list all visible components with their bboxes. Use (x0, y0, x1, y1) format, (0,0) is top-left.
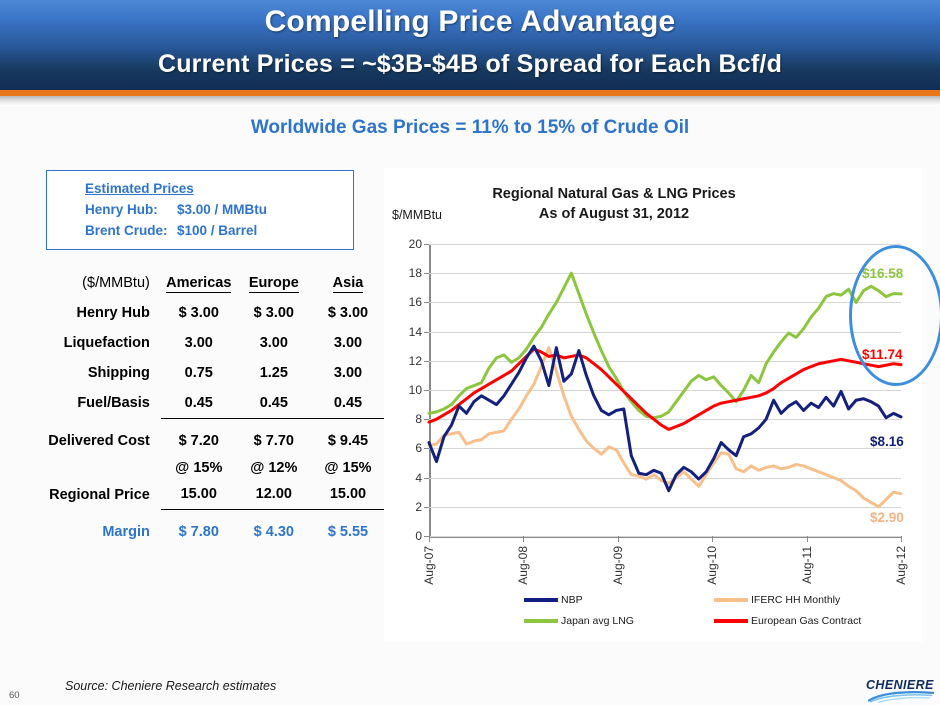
logo-wordmark: CHENIERE (866, 678, 934, 692)
table-col-header-asia: Asia (311, 268, 385, 298)
y-tick-label: 16 (409, 295, 422, 309)
rule-spacer-2 (20, 510, 161, 518)
row-label-fuel-basis: Fuel/Basis (20, 388, 161, 418)
y-tick-label: 2 (415, 500, 422, 514)
cell-regional-price-europe: 12.00 (237, 480, 311, 510)
percent-row-spacer (20, 456, 161, 480)
cell-delivered-cost-europe: $ 7.70 (237, 426, 311, 456)
cell-margin-asia: $ 5.55 (311, 517, 385, 547)
plot-area: 02468101214161820 Aug-07Aug-08Aug-09Aug-… (429, 244, 901, 536)
row-label-henry-hub: Henry Hub (20, 298, 161, 328)
rule2-europe (237, 510, 311, 518)
page-title: Compelling Price Advantage (0, 5, 940, 39)
estimated-prices-row-label-1: Brent Crude: (85, 223, 168, 238)
rule2-americas (161, 510, 237, 518)
table-row: Fuel/Basis 0.45 0.45 0.45 (20, 388, 385, 418)
estimated-prices-row-label-0: Henry Hub: (85, 202, 158, 217)
x-tick-mark (712, 536, 713, 542)
page-subtitle: Current Prices = ~$3B-$4B of Spread for … (0, 50, 940, 79)
table-unit-label: ($/MMBtu) (20, 268, 161, 298)
cell-regional-price-asia: 15.00 (311, 480, 385, 510)
legend-label-japan-lng: Japan avg LNG (561, 615, 634, 627)
legend-swatch-nbp (524, 598, 558, 602)
estimated-prices-box: Estimated Prices Henry Hub: $3.00 / MMBt… (46, 170, 354, 250)
series-lines (429, 244, 901, 536)
cost-breakdown-table: ($/MMBtu) Americas Europe Asia Henry Hub… (20, 268, 385, 547)
series-line-japan-avg-lng (429, 273, 901, 418)
rule-asia (311, 418, 385, 426)
table-row: Delivered Cost $ 7.20 $ 7.70 $ 9.45 (20, 426, 385, 456)
row-label-liquefaction: Liquefaction (20, 328, 161, 358)
cheniere-logo: CHENIERE (866, 678, 934, 702)
row-label-margin: Margin (20, 517, 161, 547)
legend-label-nbp: NBP (561, 594, 583, 606)
cell-delivered-cost-asia: $ 9.45 (311, 426, 385, 456)
table-row: Shipping 0.75 1.25 3.00 (20, 358, 385, 388)
header-shadow (0, 96, 940, 106)
table-header-row: ($/MMBtu) Americas Europe Asia (20, 268, 385, 298)
rule2-asia (311, 510, 385, 518)
cell-percent-americas: @ 15% (161, 456, 237, 480)
annotation-iferc-hh-value: $2.90 (870, 510, 904, 525)
cell-shipping-asia: 3.00 (311, 358, 385, 388)
cell-fuel-basis-americas: 0.45 (161, 388, 237, 418)
legend-item-iferc: IFERC HH Monthly (714, 594, 840, 606)
cell-fuel-basis-europe: 0.45 (237, 388, 311, 418)
cell-shipping-europe: 1.25 (237, 358, 311, 388)
chart-subtitle: As of August 31, 2012 (404, 206, 824, 222)
cell-percent-europe: @ 12% (237, 456, 311, 480)
table-row: Henry Hub $ 3.00 $ 3.00 $ 3.00 (20, 298, 385, 328)
row-label-regional-price: Regional Price (20, 480, 161, 510)
y-tick-label: 10 (409, 383, 422, 397)
x-tick-mark (429, 536, 430, 542)
table-col-header-americas: Americas (161, 268, 237, 298)
table-row-percent: @ 15% @ 12% @ 15% (20, 456, 385, 480)
x-tick-mark (901, 536, 902, 542)
estimated-prices-row-value-1: $100 / Barrel (177, 223, 257, 238)
legend-label-european-gas: European Gas Contract (751, 615, 861, 627)
table-row: Liquefaction 3.00 3.00 3.00 (20, 328, 385, 358)
x-tick-label: Aug-10 (705, 546, 719, 585)
rule-spacer (20, 418, 161, 426)
series-line-nbp (429, 346, 901, 491)
y-tick-label: 8 (415, 412, 422, 426)
y-tick-label: 6 (415, 441, 422, 455)
gridline (429, 536, 901, 537)
table-row-margin: Margin $ 7.80 $ 4.30 $ 5.55 (20, 517, 385, 547)
table-margin-rule (20, 510, 385, 518)
chart-title: Regional Natural Gas & LNG Prices (404, 186, 824, 202)
legend-swatch-iferc (714, 598, 748, 602)
cell-liquefaction-europe: 3.00 (237, 328, 311, 358)
cell-shipping-americas: 0.75 (161, 358, 237, 388)
cell-henry-hub-americas: $ 3.00 (161, 298, 237, 328)
row-label-shipping: Shipping (20, 358, 161, 388)
x-tick-mark (807, 536, 808, 542)
x-tick-label: Aug-11 (800, 546, 814, 584)
annotation-nbp-value: $8.16 (870, 434, 904, 449)
x-tick-label: Aug-09 (611, 546, 625, 585)
legend-label-iferc: IFERC HH Monthly (751, 594, 840, 606)
y-tick-label: 0 (415, 529, 422, 543)
slide-header: Compelling Price Advantage Current Price… (0, 0, 940, 90)
table-row: Regional Price 15.00 12.00 15.00 (20, 480, 385, 510)
series-line-european-gas-contract (429, 349, 901, 429)
section-subtitle: Worldwide Gas Prices = 11% to 15% of Cru… (0, 117, 940, 139)
y-tick-label: 4 (415, 471, 422, 485)
legend-item-european-gas: European Gas Contract (714, 615, 861, 627)
y-tick-label: 18 (409, 266, 422, 280)
cell-liquefaction-asia: 3.00 (311, 328, 385, 358)
cell-regional-price-americas: 15.00 (161, 480, 237, 510)
cell-percent-asia: @ 15% (311, 456, 385, 480)
table-col-header-europe: Europe (237, 268, 311, 298)
rule-europe (237, 418, 311, 426)
highlight-ellipse (849, 245, 940, 386)
logo-swoosh-icon (868, 691, 936, 703)
estimated-prices-row-value-0: $3.00 / MMBtu (177, 202, 267, 217)
x-tick-label: Aug-12 (894, 546, 908, 585)
rule-americas (161, 418, 237, 426)
row-label-delivered-cost: Delivered Cost (20, 426, 161, 456)
legend-item-nbp: NBP (524, 594, 583, 606)
page-number: 60 (9, 690, 20, 701)
x-tick-label: Aug-07 (422, 546, 436, 585)
legend-swatch-japan-lng (524, 619, 558, 623)
cell-henry-hub-asia: $ 3.00 (311, 298, 385, 328)
x-tick-mark (618, 536, 619, 542)
cell-henry-hub-europe: $ 3.00 (237, 298, 311, 328)
y-axis-unit-label: $/MMBtu (392, 208, 442, 222)
chart-panel: Regional Natural Gas & LNG Prices As of … (384, 168, 922, 642)
slide: Compelling Price Advantage Current Price… (0, 0, 940, 705)
cell-liquefaction-americas: 3.00 (161, 328, 237, 358)
legend-item-japan-lng: Japan avg LNG (524, 615, 634, 627)
estimated-prices-title: Estimated Prices (85, 181, 194, 196)
table-subtotal-rule (20, 418, 385, 426)
y-tick-label: 20 (409, 237, 422, 251)
cell-margin-americas: $ 7.80 (161, 517, 237, 547)
cell-fuel-basis-asia: 0.45 (311, 388, 385, 418)
y-tick-label: 12 (409, 354, 422, 368)
cell-delivered-cost-americas: $ 7.20 (161, 426, 237, 456)
cell-margin-europe: $ 4.30 (237, 517, 311, 547)
source-note: Source: Cheniere Research estimates (65, 679, 276, 693)
x-tick-label: Aug-08 (516, 546, 530, 585)
y-tick-label: 14 (409, 325, 422, 339)
x-tick-mark (523, 536, 524, 542)
legend-swatch-european-gas (714, 619, 748, 623)
